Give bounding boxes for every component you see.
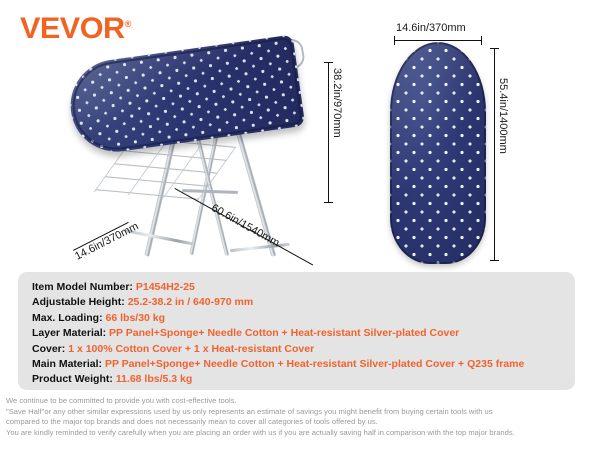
dimension-cap: [490, 48, 499, 49]
dimension-label-board-height: 38.2in/970mm: [331, 68, 343, 138]
spec-row: Product Weight: 11.68 lbs/5.3 kg: [32, 372, 567, 387]
dimension-cap: [324, 202, 333, 203]
dimension-line-board-height: [328, 62, 329, 202]
dimension-cap: [394, 36, 395, 45]
spec-row: Main Material: PP Panel+Sponge+ Needle C…: [32, 357, 567, 372]
spec-label: Cover:: [32, 343, 65, 355]
disclaimer-line: We continue to be committed to provide y…: [6, 396, 596, 407]
dimension-label-board-width: 14.6in/370mm: [73, 220, 141, 262]
dimension-line-cover-height: [494, 48, 495, 260]
spec-value: 25.2-38.2 in / 640-970 mm: [128, 296, 254, 308]
cover-edge: [390, 42, 486, 264]
spec-value: 11.68 lbs/5.3 kg: [116, 373, 192, 385]
spec-label: Product Weight:: [32, 373, 113, 385]
spec-row: Max. Loading: 66 lbs/30 kg: [32, 311, 567, 326]
spec-row: Item Model Number: P1454H2-25: [32, 280, 567, 295]
dimension-label-cover-width: 14.6in/370mm: [396, 22, 466, 34]
spec-label: Layer Material:: [32, 327, 106, 339]
spec-value: PP Panel+Sponge+ Needle Cotton + Heat-re…: [105, 358, 524, 370]
spec-label: Item Model Number:: [32, 281, 133, 293]
product-images-area: 38.2in/970mm 60.6in/1540mm 14.6in/370mm …: [0, 0, 600, 270]
dimension-label-board-length: 60.6in/1540mm: [209, 202, 281, 249]
dimension-cap: [490, 260, 499, 261]
disclaimer-line: "Save Half"or any other similar expressi…: [6, 407, 596, 418]
cover-surface: [390, 42, 486, 264]
spec-value: PP Panel+Sponge+ Needle Cotton + Heat-re…: [109, 327, 459, 339]
board-rim: [67, 37, 303, 156]
disclaimer-line: You are kindly reminded to verify carefu…: [6, 428, 596, 439]
dimension-group-board-length: 60.6in/1540mm: [175, 188, 318, 258]
dimension-label-cover-height: 55.4in/1400mm: [497, 78, 509, 154]
spec-row: Cover: 1 x 100% Cotton Cover + 1 x Heat-…: [32, 342, 567, 357]
specification-panel: Item Model Number: P1454H2-25Adjustable …: [18, 272, 575, 390]
spec-label: Adjustable Height:: [32, 296, 125, 308]
dimension-cap: [324, 62, 333, 63]
board-top-surface: [65, 34, 306, 157]
cover-figure: [390, 42, 490, 267]
specification-list: Item Model Number: P1454H2-25Adjustable …: [32, 280, 567, 388]
spec-value: 66 lbs/30 kg: [106, 312, 166, 324]
spec-row: Adjustable Height: 25.2-38.2 in / 640-97…: [32, 295, 567, 310]
dimension-cap: [481, 36, 482, 45]
spec-row: Layer Material: PP Panel+Sponge+ Needle …: [32, 326, 567, 341]
spec-value: 1 x 100% Cotton Cover + 1 x Heat-resista…: [68, 343, 314, 355]
dimension-group-board-width: 14.6in/370mm: [73, 218, 183, 268]
disclaimer-line: compared to the major top brands and doe…: [6, 417, 596, 428]
disclaimer-text: We continue to be committed to provide y…: [6, 396, 596, 438]
dimension-line-cover-width: [394, 40, 482, 41]
spec-label: Main Material:: [32, 358, 102, 370]
spec-value: P1454H2-25: [136, 281, 195, 293]
spec-label: Max. Loading:: [32, 312, 103, 324]
